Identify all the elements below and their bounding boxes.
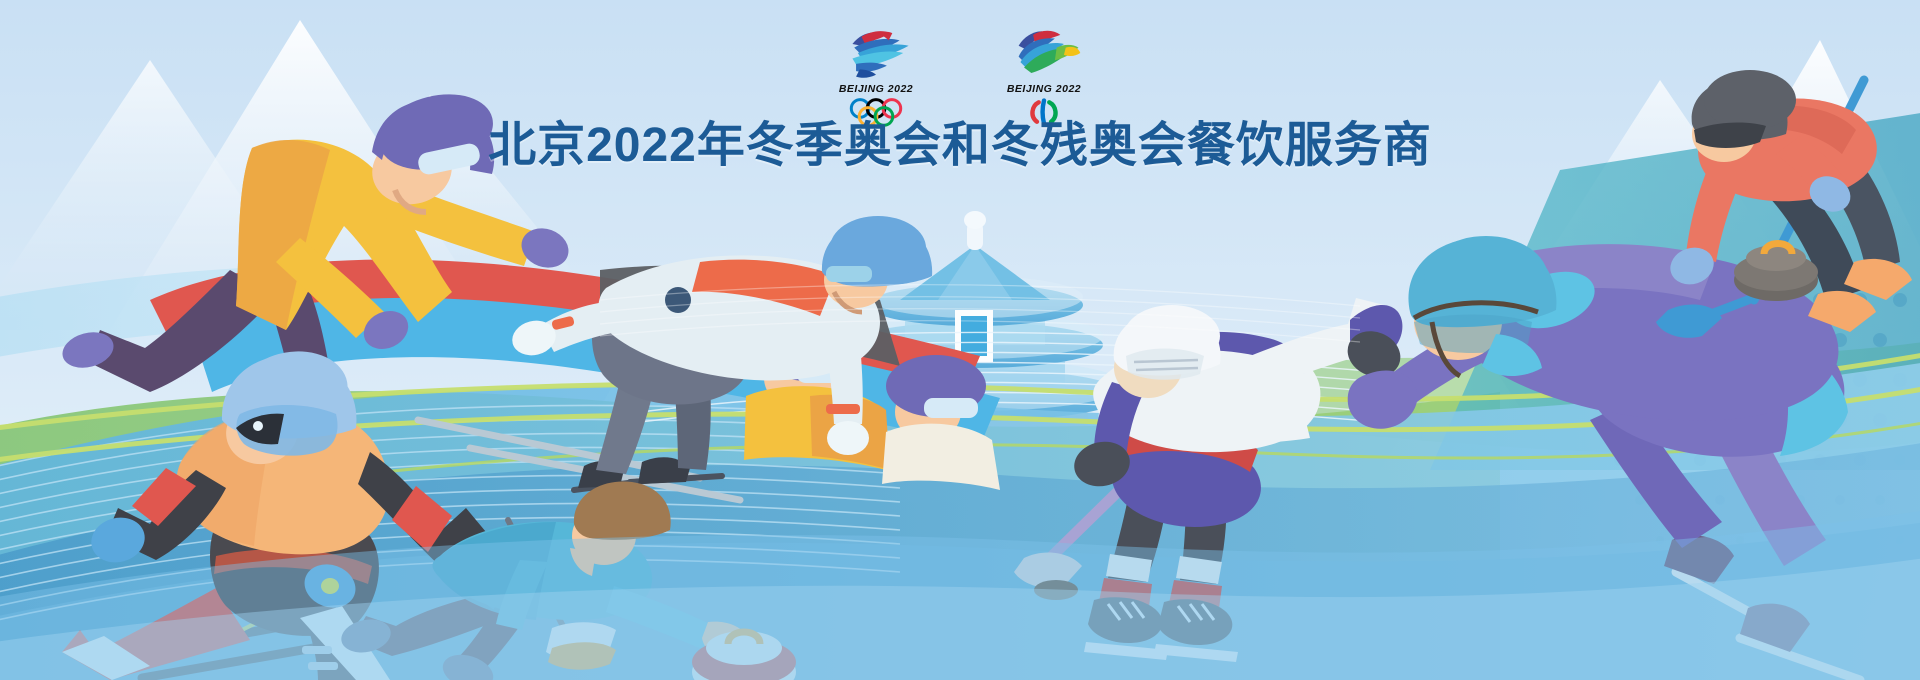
page-title: 北京2022年冬季奥会和冬残奥会餐饮服务商 [488, 120, 1432, 173]
beijing-2022-paralympic-emblem: BEIJING 2022 [988, 24, 1100, 124]
emblem-caption: BEIJING 2022 [820, 83, 932, 95]
page-title-wrap: 北京2022年冬季奥会和冬残奥会餐饮服务商 [0, 120, 1920, 173]
emblem-row: BEIJING 2022 B [0, 24, 1920, 124]
olympic-catering-banner: BEIJING 2022 B [0, 0, 1920, 680]
flying-high-logo-icon [988, 24, 1100, 82]
emblem-caption: BEIJING 2022 [988, 83, 1100, 95]
beijing-2022-olympic-emblem: BEIJING 2022 [820, 24, 932, 124]
winter-dream-logo-icon [820, 24, 932, 82]
